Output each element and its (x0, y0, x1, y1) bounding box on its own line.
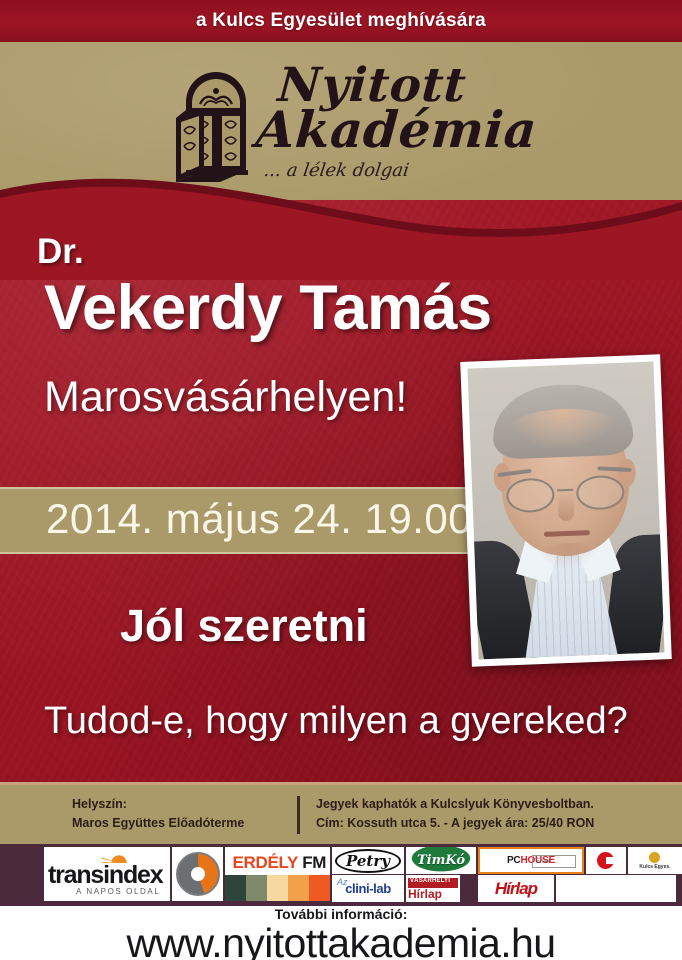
sponsor-logo-timko[interactable]: TimKó (406, 847, 476, 874)
hirlap-word-small: Hírlap (408, 887, 442, 901)
clini-script: Az (337, 877, 348, 887)
speaker-name: Vekerdy Tamás (44, 272, 492, 344)
petry-word: Petry (346, 852, 390, 870)
speaker-city: Marosvásárhelyen! (44, 373, 407, 422)
hair (491, 382, 634, 459)
nyitott-akademia-logo: Nyitott Akadémia ... a lélek dolgai (170, 52, 530, 212)
lecture-title: Jól szeretni (120, 600, 368, 652)
sponsor-logo-c-mark[interactable] (586, 847, 626, 874)
website-url[interactable]: www.nyitottakademia.hu (0, 920, 682, 960)
event-poster: a Kulcs Egyesület meghívására (0, 0, 682, 960)
footer: További információ: www.nyitottakademia.… (0, 906, 682, 960)
glasses-bridge (557, 489, 573, 492)
sponsor-logo-hirlap[interactable]: Hírlap (478, 875, 554, 902)
venue-info: Helyszín: Maros Együttes Előadóterme (72, 795, 244, 833)
sponsor-logo-transindex[interactable]: transindex A NAPOS OLDAL (44, 847, 170, 901)
sponsor-strip: Támogatók: transindex A NAPOS OLDAL ERDÉ… (0, 844, 682, 906)
logo-tagline: ... a lélek dolgai (263, 160, 411, 181)
sponsor-logo-petry[interactable]: Petry (332, 847, 404, 874)
erdely-word: ERDÉLY (232, 853, 297, 872)
info-divider (297, 796, 300, 834)
top-banner-text: a Kulcs Egyesület meghívására (196, 10, 486, 32)
nose (557, 493, 574, 522)
sponsor-logo-clini-lab[interactable]: Az clini-lab (332, 875, 404, 902)
sponsor-row-vasarhelyi: VÁSÁRHELYI Hírlap (406, 875, 476, 902)
top-banner: a Kulcs Egyesület meghívására (0, 0, 682, 42)
sponsor-stack-1: Petry Az clini-lab (332, 847, 404, 902)
sponsor-logo-kulcs-egyesulet[interactable]: Kulcs Egyes. (628, 847, 682, 874)
vasarhelyi-word: VÁSÁRHELYI (410, 878, 450, 884)
ornate-door-icon (170, 58, 262, 188)
sponsor-logo-erdely-fm[interactable]: ERDÉLY FM (225, 847, 330, 901)
sponsor-logo-nepujsag[interactable] (556, 875, 676, 902)
venue-ticket-band: Helyszín: Maros Együttes Előadóterme Jeg… (0, 782, 682, 847)
petry-oval: Petry (335, 849, 401, 873)
venue-value: Maros Együttes Előadóterme (72, 814, 244, 833)
pchouse-enter-box: Enter ← (532, 855, 576, 868)
speaker-portrait (467, 362, 664, 660)
sponsor-stack-3: PCHOUSE Enter ← Kulcs Egyes. Hírlap (478, 847, 682, 902)
hirlap-word: Hírlap (495, 879, 537, 899)
sponsor-logo-pchouse[interactable]: PCHOUSE Enter ← (478, 847, 584, 874)
date-band: 2014. május 24. 19.00 (0, 487, 520, 554)
sponsor-stack-2: TimKó VÁSÁRHELYI Hírlap (406, 847, 476, 902)
fm-word: FM (302, 853, 326, 872)
c-mark-icon (597, 852, 614, 869)
pc-word: PC (507, 855, 521, 866)
sponsor-logos: transindex A NAPOS OLDAL ERDÉLY FM (44, 847, 682, 903)
erdely-fm-word: ERDÉLY FM (232, 853, 326, 873)
sponsor-row-bottom: Hírlap (478, 875, 682, 902)
ticket-line-2: Cím: Kossuth utca 5. - A jegyek ára: 25/… (316, 814, 594, 833)
sponsor-row-top: PCHOUSE Enter ← Kulcs Egyes. (478, 847, 682, 874)
ticket-line-1: Jegyek kaphatók a Kulcslyuk Könyvesboltb… (316, 795, 594, 814)
speaker-prefix: Dr. (37, 232, 84, 272)
venue-label: Helyszín: (72, 795, 244, 814)
transindex-word: transindex (48, 861, 162, 890)
timko-word: TimKó (417, 853, 465, 868)
kulcs-dot-icon (649, 852, 660, 863)
round-emblem-icon (176, 852, 220, 896)
ticket-info: Jegyek kaphatók a Kulcslyuk Könyvesboltb… (316, 795, 594, 833)
speaker-portrait-frame (460, 354, 672, 666)
lecture-subtitle: Tudod-e, hogy milyen a gyereked? (44, 700, 628, 743)
kulcs-word: Kulcs Egyes. (639, 864, 670, 870)
erdely-color-bars (225, 875, 330, 901)
clini-word: clini-lab (345, 881, 391, 896)
sponsor-logo-vasarhelyi-hirlap[interactable]: VÁSÁRHELYI Hírlap (406, 875, 460, 902)
transindex-slogan: A NAPOS OLDAL (76, 887, 160, 896)
logo-line-2: Akadémia (254, 100, 539, 159)
date-text: 2014. május 24. 19.00 (46, 495, 472, 543)
sponsor-logo-round-emblem[interactable] (172, 847, 223, 901)
